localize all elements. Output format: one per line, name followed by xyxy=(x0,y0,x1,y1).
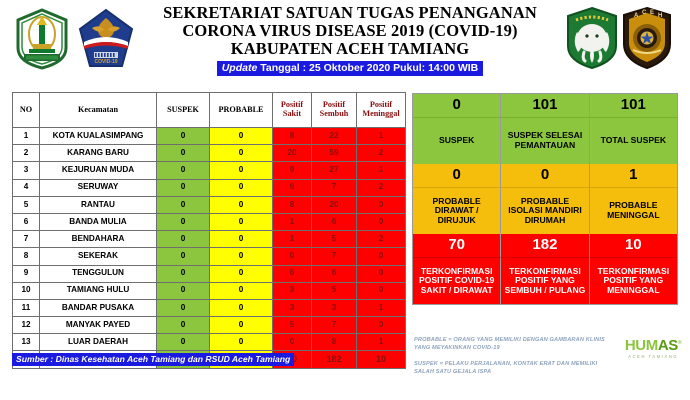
table-row: 2KARANG BARU0020592 xyxy=(13,145,406,162)
row-no: 3 xyxy=(13,162,40,179)
row-suspek: 0 xyxy=(157,145,210,162)
row-kecamatan: BANDAR PUSAKA xyxy=(40,299,157,316)
table-row: 9TENGGULUN00660 xyxy=(13,265,406,282)
summary-panel: 0 101 101 SUSPEK SUSPEK SELESAI PEMANTAU… xyxy=(412,93,678,305)
row-suspek: 0 xyxy=(157,248,210,265)
row-probable: 0 xyxy=(210,317,273,334)
total-suspek-label: TOTAL SUSPEK xyxy=(590,118,677,164)
row-positif-meninggal: 1 xyxy=(357,299,406,316)
row-suspek: 0 xyxy=(157,317,210,334)
total-positif-sembuh: 182 xyxy=(312,351,357,368)
row-positif-sakit: 1 xyxy=(273,231,312,248)
probable-meninggal-value: 1 xyxy=(590,164,677,188)
row-no: 2 xyxy=(13,145,40,162)
col-header-suspek: SUSPEK xyxy=(157,93,210,128)
table-body: 1KOTA KUALASIMPANG0082212KARANG BARU0020… xyxy=(13,128,406,369)
col-header-positif-sembuh: Positif Sembuh xyxy=(312,93,357,128)
note-suspek: SUSPEK = PELAKU PERJALANAN, KONTAK ERAT … xyxy=(414,360,614,377)
row-positif-sembuh: 5 xyxy=(312,231,357,248)
probable-labels-row: PROBABLE DIRAWAT / DIRUJUK PROBABLE ISOL… xyxy=(413,188,677,234)
row-probable: 0 xyxy=(210,196,273,213)
row-positif-meninggal: 0 xyxy=(357,213,406,230)
terkonfirmasi-sakit-value: 70 xyxy=(413,234,501,258)
row-kecamatan: BANDA MULIA xyxy=(40,213,157,230)
row-kecamatan: KOTA KUALASIMPANG xyxy=(40,128,157,145)
row-suspek: 0 xyxy=(157,179,210,196)
aceh-tamiang-seal-logo xyxy=(14,8,70,70)
definitions-notes: PROBABLE = ORANG YANG MEMILIKI DENGAN GA… xyxy=(414,336,614,377)
probable-isolasi-label: PROBABLE ISOLASI MANDIRI DIRUMAH xyxy=(501,188,589,234)
row-positif-meninggal: 1 xyxy=(357,162,406,179)
table-row: 7BENDAHARA00152 xyxy=(13,231,406,248)
row-suspek: 0 xyxy=(157,231,210,248)
row-no: 1 xyxy=(13,128,40,145)
row-positif-meninggal: 0 xyxy=(357,282,406,299)
col-header-positif-meninggal-line2: Meninggal xyxy=(362,109,399,118)
update-text: Tanggal : 25 Oktober 2020 Pukul: 14:00 W… xyxy=(257,62,478,74)
svg-text:COVID-19: COVID-19 xyxy=(94,59,117,65)
title-line-3: KABUPATEN ACEH TAMIANG xyxy=(140,40,560,58)
row-suspek: 0 xyxy=(157,334,210,351)
col-header-positif-sakit-line2: Sakit xyxy=(283,109,301,118)
row-kecamatan: SERUWAY xyxy=(40,179,157,196)
table-header-row: NO Kecamatan SUSPEK PROBABLE Positif Sak… xyxy=(13,93,406,128)
row-no: 7 xyxy=(13,231,40,248)
humas-subtitle: ACEH TAMIANG xyxy=(620,354,686,359)
row-no: 12 xyxy=(13,317,40,334)
row-kecamatan: KEJURUAN MUDA xyxy=(40,162,157,179)
probable-meninggal-label: PROBABLE MENINGGAL xyxy=(590,188,677,234)
row-kecamatan: LUAR DAERAH xyxy=(40,334,157,351)
suspek-selesai-pemantauan-label: SUSPEK SELESAI PEMANTAUAN xyxy=(501,118,589,164)
row-positif-sembuh: 8 xyxy=(312,334,357,351)
row-no: 10 xyxy=(13,282,40,299)
humas-word-part2: AS xyxy=(658,337,678,354)
suspek-value: 0 xyxy=(413,94,501,118)
humas-wordmark: HUMAS® xyxy=(620,338,686,353)
probable-dirawat-label: PROBABLE DIRAWAT / DIRUJUK xyxy=(413,188,501,234)
row-kecamatan: KARANG BARU xyxy=(40,145,157,162)
total-positif-meninggal: 10 xyxy=(357,351,406,368)
row-no: 4 xyxy=(13,179,40,196)
total-suspek-value: 101 xyxy=(590,94,677,118)
suspek-label: SUSPEK xyxy=(413,118,501,164)
row-positif-sakit: 0 xyxy=(273,248,312,265)
table-row: 13LUAR DAERAH00081 xyxy=(13,334,406,351)
row-positif-sakit: 9 xyxy=(273,162,312,179)
row-no: 6 xyxy=(13,213,40,230)
row-probable: 0 xyxy=(210,265,273,282)
row-probable: 0 xyxy=(210,179,273,196)
humas-logo: HUMAS® ACEH TAMIANG xyxy=(620,338,686,359)
row-positif-sembuh: 20 xyxy=(312,196,357,213)
satgas-covid19-logo: COVID-19 xyxy=(78,8,134,70)
suspek-labels-row: SUSPEK SUSPEK SELESAI PEMANTAUAN TOTAL S… xyxy=(413,118,677,164)
row-positif-meninggal: 2 xyxy=(357,231,406,248)
row-positif-sembuh: 6 xyxy=(312,265,357,282)
row-positif-meninggal: 0 xyxy=(357,317,406,334)
svg-text:C: C xyxy=(642,10,647,16)
col-header-positif-sakit: Positif Sakit xyxy=(273,93,312,128)
row-kecamatan: TAMIANG HULU xyxy=(40,282,157,299)
row-no: 13 xyxy=(13,334,40,351)
note-probable: PROBABLE = ORANG YANG MEMILIKI DENGAN GA… xyxy=(414,336,614,353)
table-row: 3KEJURUAN MUDA009271 xyxy=(13,162,406,179)
table-row: 12MANYAK PAYED00570 xyxy=(13,317,406,334)
svg-text:H: H xyxy=(658,13,662,19)
row-positif-sembuh: 7 xyxy=(312,248,357,265)
row-probable: 0 xyxy=(210,282,273,299)
terkonfirmasi-sakit-label: TERKONFIRMASI POSITIF COVID-19 SAKIT / D… xyxy=(413,258,501,304)
row-probable: 0 xyxy=(210,128,273,145)
row-suspek: 0 xyxy=(157,162,210,179)
terkonfirmasi-values-row: 70 182 10 xyxy=(413,234,677,258)
terkonfirmasi-meninggal-value: 10 xyxy=(590,234,677,258)
table-row: 5RANTAU008200 xyxy=(13,196,406,213)
kodim-elephant-logo xyxy=(566,6,618,70)
probable-dirawat-value: 0 xyxy=(413,164,501,188)
polri-aceh-badge-logo: A C E H xyxy=(620,6,674,70)
row-suspek: 0 xyxy=(157,299,210,316)
row-positif-sembuh: 22 xyxy=(312,128,357,145)
row-positif-sembuh: 27 xyxy=(312,162,357,179)
row-kecamatan: MANYAK PAYED xyxy=(40,317,157,334)
cases-by-district-table: NO Kecamatan SUSPEK PROBABLE Positif Sak… xyxy=(12,92,406,369)
registered-mark-icon: ® xyxy=(678,340,681,346)
table-row: 10TAMIANG HULU00350 xyxy=(13,282,406,299)
row-positif-sakit: 8 xyxy=(273,196,312,213)
row-probable: 0 xyxy=(210,248,273,265)
col-header-no: NO xyxy=(13,93,40,128)
row-positif-meninggal: 2 xyxy=(357,145,406,162)
table-row: 4SERUWAY00672 xyxy=(13,179,406,196)
row-positif-meninggal: 0 xyxy=(357,196,406,213)
row-positif-sakit: 3 xyxy=(273,282,312,299)
terkonfirmasi-sembuh-value: 182 xyxy=(501,234,589,258)
update-timestamp-banner: Update Tanggal : 25 Oktober 2020 Pukul: … xyxy=(217,61,484,76)
svg-text:A: A xyxy=(634,13,639,19)
title-line-1: SEKRETARIAT SATUAN TUGAS PENANGANAN xyxy=(140,4,560,22)
terkonfirmasi-meninggal-label: TERKONFIRMASI POSITIF YANG MENINGGAL xyxy=(590,258,677,304)
title-line-2: CORONA VIRUS DISEASE 2019 (COVID-19) xyxy=(140,22,560,40)
row-suspek: 0 xyxy=(157,265,210,282)
row-suspek: 0 xyxy=(157,282,210,299)
probable-isolasi-value: 0 xyxy=(501,164,589,188)
data-source-note: Sumber : Dinas Kesehatan Aceh Tamiang da… xyxy=(12,353,294,366)
row-suspek: 0 xyxy=(157,213,210,230)
row-positif-sakit: 3 xyxy=(273,299,312,316)
suspek-selesai-pemantauan-value: 101 xyxy=(501,94,589,118)
col-header-positif-meninggal: Positif Meninggal xyxy=(357,93,406,128)
row-positif-sakit: 6 xyxy=(273,179,312,196)
row-kecamatan: BENDAHARA xyxy=(40,231,157,248)
row-no: 8 xyxy=(13,248,40,265)
table-row: 1KOTA KUALASIMPANG008221 xyxy=(13,128,406,145)
terkonfirmasi-sembuh-label: TERKONFIRMASI POSITIF YANG SEMBUH / PULA… xyxy=(501,258,589,304)
row-no: 5 xyxy=(13,196,40,213)
col-header-positif-sembuh-line2: Sembuh xyxy=(320,109,349,118)
row-positif-meninggal: 1 xyxy=(357,128,406,145)
row-probable: 0 xyxy=(210,299,273,316)
title-block: SEKRETARIAT SATUAN TUGAS PENANGANAN CORO… xyxy=(140,4,560,76)
row-suspek: 0 xyxy=(157,128,210,145)
row-probable: 0 xyxy=(210,334,273,351)
row-positif-meninggal: 1 xyxy=(357,334,406,351)
row-positif-sakit: 20 xyxy=(273,145,312,162)
suspek-values-row: 0 101 101 xyxy=(413,94,677,118)
header: COVID-19 SEKRETARIAT SATUAN TUGAS PENANG… xyxy=(0,0,690,84)
row-kecamatan: SEKERAK xyxy=(40,248,157,265)
cases-by-district-table-wrap: NO Kecamatan SUSPEK PROBABLE Positif Sak… xyxy=(12,92,398,369)
row-positif-sembuh: 3 xyxy=(312,299,357,316)
col-header-probable: PROBABLE xyxy=(210,93,273,128)
col-header-kecamatan: Kecamatan xyxy=(40,93,157,128)
row-positif-sakit: 1 xyxy=(273,213,312,230)
row-probable: 0 xyxy=(210,145,273,162)
row-positif-sembuh: 5 xyxy=(312,282,357,299)
row-positif-sakit: 5 xyxy=(273,317,312,334)
table-row: 6BANDA MULIA00160 xyxy=(13,213,406,230)
svg-text:E: E xyxy=(650,10,654,16)
row-suspek: 0 xyxy=(157,196,210,213)
humas-word-part1: HUM xyxy=(625,337,658,354)
table-row: 8SEKERAK00070 xyxy=(13,248,406,265)
row-positif-sakit: 6 xyxy=(273,265,312,282)
row-positif-sakit: 0 xyxy=(273,334,312,351)
row-probable: 0 xyxy=(210,213,273,230)
row-positif-sembuh: 59 xyxy=(312,145,357,162)
row-no: 11 xyxy=(13,299,40,316)
row-kecamatan: TENGGULUN xyxy=(40,265,157,282)
row-probable: 0 xyxy=(210,162,273,179)
row-probable: 0 xyxy=(210,231,273,248)
row-no: 9 xyxy=(13,265,40,282)
row-positif-meninggal: 0 xyxy=(357,265,406,282)
update-label: Update xyxy=(222,62,258,74)
infographic-root: COVID-19 SEKRETARIAT SATUAN TUGAS PENANG… xyxy=(0,0,690,400)
table-row: 11BANDAR PUSAKA00331 xyxy=(13,299,406,316)
row-positif-sembuh: 7 xyxy=(312,317,357,334)
row-positif-meninggal: 0 xyxy=(357,248,406,265)
terkonfirmasi-labels-row: TERKONFIRMASI POSITIF COVID-19 SAKIT / D… xyxy=(413,258,677,304)
row-positif-sembuh: 7 xyxy=(312,179,357,196)
row-positif-sembuh: 6 xyxy=(312,213,357,230)
row-positif-meninggal: 2 xyxy=(357,179,406,196)
row-positif-sakit: 8 xyxy=(273,128,312,145)
probable-values-row: 0 0 1 xyxy=(413,164,677,188)
row-kecamatan: RANTAU xyxy=(40,196,157,213)
table-head: NO Kecamatan SUSPEK PROBABLE Positif Sak… xyxy=(13,93,406,128)
